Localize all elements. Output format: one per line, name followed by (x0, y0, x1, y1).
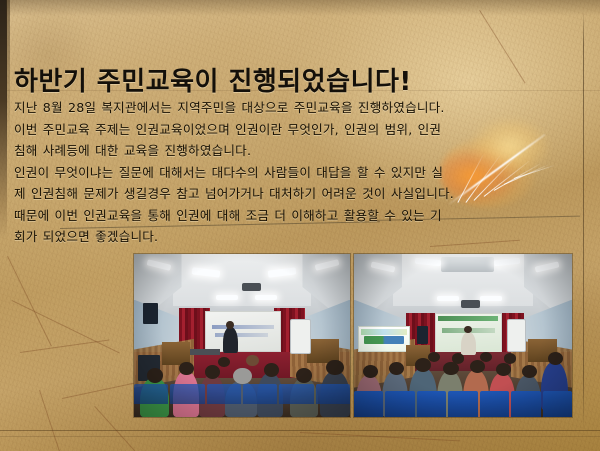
audience-head (428, 352, 440, 362)
presenter-body (461, 332, 476, 355)
audience-head (296, 368, 312, 383)
audience-head (233, 368, 251, 384)
body-line-6: 때문에 이번 인권교육을 통해 인권에 대해 조금 더 이해하고 활용할 수 있… (14, 205, 576, 227)
top-shadow (0, 0, 600, 16)
whiteboard (290, 319, 311, 354)
audience-head (452, 353, 464, 363)
screen-text-line (212, 325, 274, 329)
body-line-7: 회가 되었으면 좋겠습니다. (14, 226, 576, 248)
body-line-2: 이번 주민교육 주제는 인권교육이었으며 인권이란 무엇인가, 인권의 범위, … (14, 119, 576, 141)
audience-head (548, 352, 563, 365)
body-line-4: 인권이 무엇이냐는 질문에 대해서는 대다수의 사람들이 대답을 할 수 있지만… (14, 162, 576, 184)
body-line-5: 제 인권침해 문제가 생길경우 참고 넘어가거나 대처하기 어려운 것이 사실입… (14, 183, 576, 205)
audience-head (264, 363, 279, 377)
chair-row (354, 391, 572, 417)
audience-head (389, 362, 404, 375)
audience-head (363, 365, 378, 378)
poster-page: 하반기 주민교육이 진행되었습니다! 지난 8월 28일 복지관에서는 지역주민… (0, 0, 600, 451)
projector (242, 283, 261, 291)
chair (279, 384, 313, 404)
chair (448, 391, 477, 417)
right-edge-line (583, 10, 584, 430)
photo-lecture-hall-left (134, 254, 350, 417)
presenter-head (226, 321, 234, 329)
audience-head (205, 365, 220, 379)
chair-row (134, 384, 350, 404)
chair (480, 391, 509, 417)
chair (170, 384, 204, 404)
side-table (190, 349, 220, 356)
ceiling-lamp (216, 295, 238, 300)
audience-head (504, 353, 516, 363)
ceiling-lamp (437, 296, 459, 301)
audience-head (326, 360, 343, 375)
presenter-body (223, 327, 238, 353)
projector (461, 300, 481, 308)
body-line-3: 침해 사례등에 대한 교육을 진행하였습니다. (14, 140, 576, 162)
screen-title-bar (438, 316, 498, 321)
wall-speaker (417, 326, 428, 344)
chair (243, 384, 277, 404)
projection-screen (205, 311, 280, 352)
event-banner (358, 326, 410, 352)
body-text: 지난 8월 28일 복지관에서는 지역주민을 대상으로 주민교육을 진행하였습니… (14, 97, 576, 248)
body-line-1: 지난 8월 28일 복지관에서는 지역주민을 대상으로 주민교육을 진행하였습니… (14, 97, 576, 119)
page-title: 하반기 주민교육이 진행되었습니다! (14, 61, 534, 98)
audience-head (147, 368, 163, 383)
audience-head (470, 360, 485, 373)
audience-head (522, 365, 537, 378)
audience-head (443, 362, 458, 375)
chair (543, 391, 572, 417)
ceiling-recess (173, 254, 311, 306)
banner-decoration (361, 329, 407, 335)
chair (511, 391, 540, 417)
photo-lecture-hall-right (354, 254, 572, 417)
chair (316, 384, 350, 404)
photo-gallery (134, 254, 572, 417)
ceiling-lamp (255, 295, 277, 300)
air-conditioner (441, 257, 493, 272)
banner-title-text (364, 336, 404, 344)
chair (385, 391, 414, 417)
whiteboard (507, 319, 526, 352)
wall-speaker (143, 303, 158, 324)
chair (417, 391, 446, 417)
paper-seam-lower (0, 436, 600, 437)
chair (354, 391, 383, 417)
paper-seam-upper (0, 430, 600, 431)
chair (207, 384, 241, 404)
left-edge-shadow (6, 0, 10, 150)
chair (134, 384, 168, 404)
ceiling-lamp (480, 296, 502, 301)
